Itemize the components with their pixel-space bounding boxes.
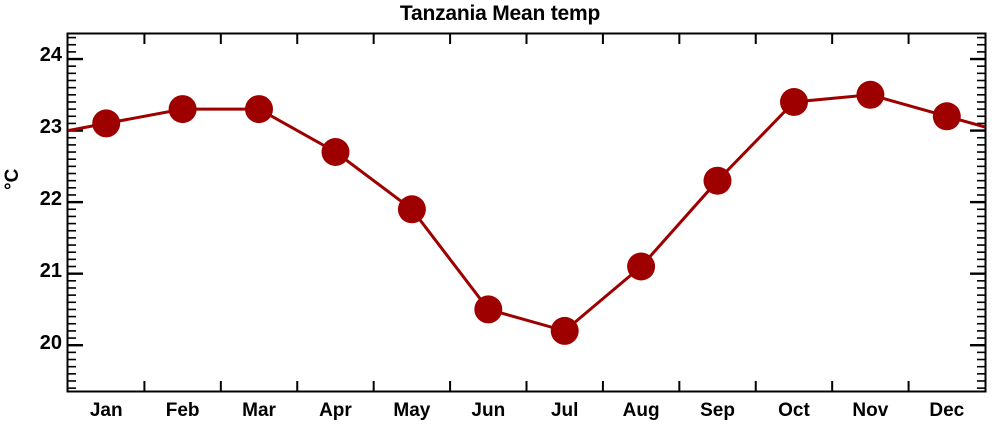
- data-point-oct: [780, 88, 808, 116]
- x-tick-label-may: May: [393, 400, 430, 422]
- data-point-nov: [856, 81, 884, 109]
- x-tick-label-apr: Apr: [319, 400, 352, 422]
- x-tick-label-mar: Mar: [242, 400, 276, 422]
- data-point-sep: [704, 167, 732, 195]
- data-point-jul: [551, 317, 579, 345]
- x-tick-label-jun: Jun: [471, 400, 505, 422]
- data-point-jun: [474, 295, 502, 323]
- data-point-may: [398, 195, 426, 223]
- x-tick-label-feb: Feb: [166, 400, 200, 422]
- x-tick-label-jan: Jan: [90, 400, 123, 422]
- data-point-mar: [245, 95, 273, 123]
- data-series-line: [68, 81, 985, 345]
- plot-frame: [68, 34, 986, 392]
- data-point-aug: [627, 253, 655, 281]
- x-tick-label-dec: Dec: [929, 400, 964, 422]
- x-tick-label-jul: Jul: [551, 400, 578, 422]
- x-tick-label-sep: Sep: [700, 400, 735, 422]
- data-point-feb: [169, 95, 197, 123]
- data-point-dec: [933, 102, 961, 130]
- chart-container: Tanzania Mean temp °C 24 23 22 21 20 Jan…: [0, 0, 1000, 431]
- data-point-jan: [92, 109, 120, 137]
- data-point-apr: [322, 138, 350, 166]
- x-tick-label-nov: Nov: [852, 400, 888, 422]
- plot-area: [0, 0, 1000, 431]
- axis-ticks: [68, 34, 985, 391]
- x-tick-label-aug: Aug: [623, 400, 660, 422]
- x-tick-label-oct: Oct: [778, 400, 810, 422]
